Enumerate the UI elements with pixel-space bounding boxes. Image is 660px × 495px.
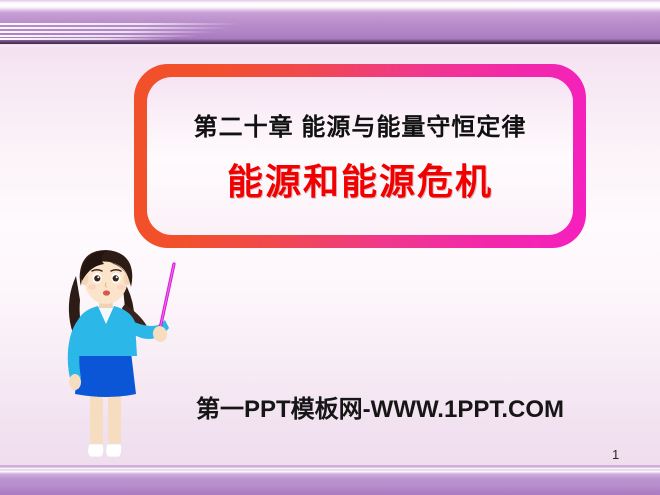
title-box: 第二十章 能源与能量守恒定律 能源和能源危机	[134, 64, 586, 248]
watermark-text: 第一PPT模板网-WWW.1PPT.COM	[196, 389, 564, 424]
shoes	[88, 444, 122, 457]
chapter-title: 第二十章 能源与能量守恒定律	[194, 116, 527, 140]
top-bar-underline	[0, 44, 660, 47]
lesson-title: 能源和能源危机	[227, 164, 493, 200]
skirt	[75, 352, 136, 397]
top-decorative-bar	[0, 0, 660, 44]
page-number: 1	[612, 447, 619, 462]
top-bar-stripes	[0, 23, 250, 40]
left-hand	[69, 374, 81, 390]
title-box-inner-frame: 第二十章 能源与能量守恒定律 能源和能源危机	[137, 67, 583, 245]
right-hand-pointer	[151, 264, 174, 343]
slide-canvas: 第二十章 能源与能量守恒定律 能源和能源危机	[0, 0, 660, 495]
bottom-decorative-bar	[0, 468, 660, 495]
title-text-container: 第二十章 能源与能量守恒定律 能源和能源危机	[139, 69, 581, 243]
teacher-illustration	[30, 246, 190, 476]
top-bar-highlight	[0, 0, 660, 10]
